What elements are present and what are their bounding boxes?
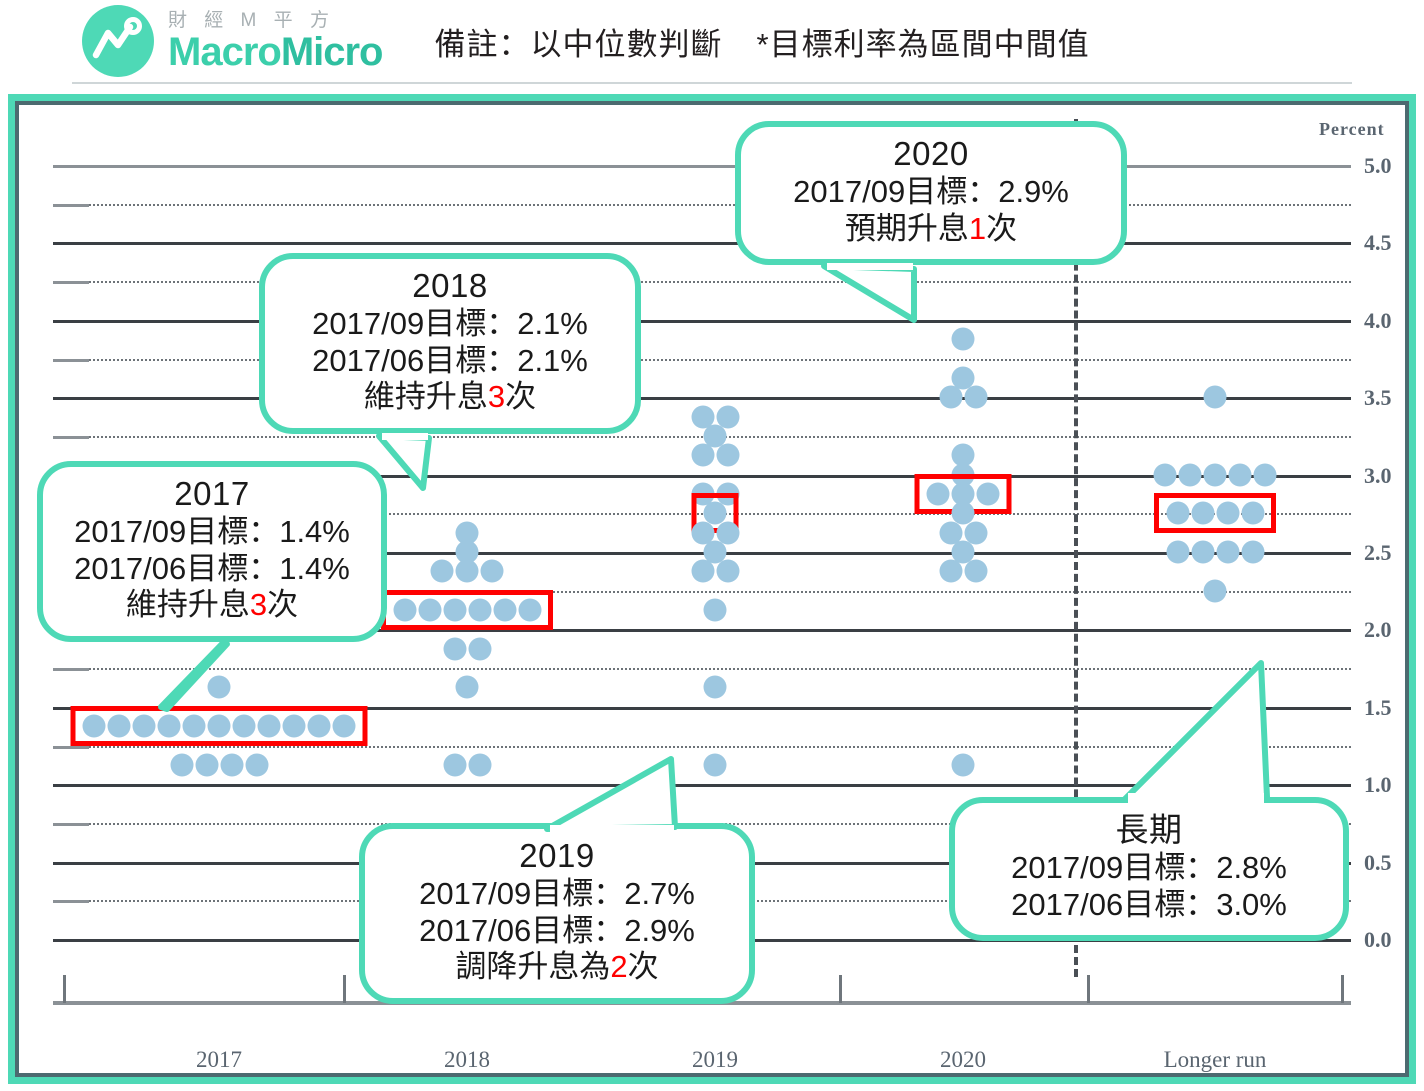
callout-2018-summary: 維持升息3次 [283, 379, 617, 416]
callout-2020-summary: 預期升息1次 [759, 211, 1103, 248]
callout-2017-row-0: 2017/09目標：1.4% [61, 514, 363, 551]
brand-name-en-micro: Micro [281, 30, 383, 74]
dot-point [108, 715, 131, 738]
dot-point [443, 599, 466, 622]
callout-2018-summary-pre: 維持升息 [364, 379, 488, 414]
dot-point [964, 386, 987, 409]
dot-point [308, 715, 331, 738]
x-axis-tick [343, 975, 346, 1003]
dot-plot-area: Percent 0.00.51.01.52.02.53.03.54.04.55.… [19, 105, 1405, 1073]
callout-2020-tail [819, 263, 959, 323]
dot-point [83, 715, 106, 738]
x-axis-tick [839, 975, 842, 1003]
callout-2019-tail [539, 753, 699, 833]
dot-point [468, 637, 491, 660]
dot-point [691, 444, 714, 467]
callout-2018-summary-post: 次 [505, 379, 536, 414]
gridline-major [53, 397, 1351, 400]
dot-point [333, 715, 356, 738]
dot-point [1204, 579, 1227, 602]
dot-point [468, 599, 491, 622]
dot-point [1241, 541, 1264, 564]
dot-point [158, 715, 181, 738]
callout-2017-summary-pre: 維持升息 [126, 587, 250, 622]
callout-2018-row-0: 2017/09目標：2.1% [283, 306, 617, 343]
callout-longer-run-title: 長期 [973, 811, 1325, 850]
dot-point [1166, 541, 1189, 564]
callout-2017-summary-num: 3 [250, 587, 267, 622]
y-axis-tick-stub [53, 436, 89, 439]
callout-2019-title: 2019 [383, 837, 731, 876]
callout-2019-row-1: 2017/06目標：2.9% [383, 913, 731, 950]
x-axis-label-2018: 2018 [444, 1047, 490, 1073]
dot-point [704, 753, 727, 776]
callout-2017-row-1: 2017/06目標：1.4% [61, 551, 363, 588]
dot-point [1154, 463, 1177, 486]
dot-point [1229, 463, 1252, 486]
dot-point [1216, 541, 1239, 564]
y-axis-tick-stub [53, 204, 89, 207]
screenshot-root: 財 經 M 平 方 MacroMicro 備註：以中位數判斷*目標利率為區間中間… [0, 0, 1424, 1091]
dot-point [1204, 463, 1227, 486]
callout-2020-summary-post: 次 [986, 211, 1017, 246]
dot-point [195, 753, 218, 776]
gridline-minor [53, 668, 1351, 670]
dot-point [939, 386, 962, 409]
header-note-left: 備註：以中位數判斷 [435, 27, 723, 62]
callout-2018: 2018 2017/09目標：2.1% 2017/06目標：2.1% 維持升息3… [259, 253, 641, 434]
dot-point [468, 753, 491, 776]
callout-2018-row-1: 2017/06目標：2.1% [283, 343, 617, 380]
callout-2017-tail [127, 639, 257, 711]
y-axis-title: Percent [1319, 119, 1385, 140]
callout-2017-summary: 維持升息3次 [61, 587, 363, 624]
callout-2020-row-0: 2017/09目標：2.9% [759, 174, 1103, 211]
dot-point [1216, 502, 1239, 525]
x-axis-label-2017: 2017 [196, 1047, 242, 1073]
y-axis-tick-label: 5.0 [1364, 153, 1405, 179]
callout-2017-title: 2017 [61, 475, 363, 514]
dot-point [927, 482, 950, 505]
y-axis-tick-label: 3.5 [1364, 385, 1405, 411]
gridline-minor [53, 436, 1351, 438]
dot-point [964, 560, 987, 583]
dot-point [233, 715, 256, 738]
y-axis-tick-label: 0.5 [1364, 850, 1405, 876]
dot-point [1191, 502, 1214, 525]
dot-point [456, 676, 479, 699]
dot-point [952, 753, 975, 776]
callout-2018-title: 2018 [283, 267, 617, 306]
x-axis-tick [1341, 975, 1344, 1003]
x-axis-label-longer-run: Longer run [1164, 1047, 1267, 1073]
dot-point [183, 715, 206, 738]
x-axis-tick [63, 975, 66, 1003]
y-axis-tick-label: 0.0 [1364, 927, 1405, 953]
dot-point [443, 753, 466, 776]
brand-name-en-macro: Macro [168, 30, 281, 74]
callout-2019-summary-pre: 調降升息為 [455, 949, 610, 984]
y-axis-tick-label: 4.5 [1364, 230, 1405, 256]
gridline-major [53, 165, 1351, 168]
dot-point [716, 560, 739, 583]
page-header: 財 經 M 平 方 MacroMicro 備註：以中位數判斷*目標利率為區間中間… [72, 0, 1352, 84]
dot-point [170, 753, 193, 776]
callout-2018-tail [371, 433, 491, 493]
callout-longer-run: 長期 2017/09目標：2.8% 2017/06目標：3.0% [949, 797, 1349, 941]
y-axis-tick-label: 2.5 [1364, 540, 1405, 566]
dot-point [431, 560, 454, 583]
dot-point [952, 328, 975, 351]
callout-longer-run-row-1: 2017/06目標：3.0% [973, 887, 1325, 924]
dot-point [1166, 502, 1189, 525]
dot-point [691, 560, 714, 583]
dot-point [456, 560, 479, 583]
callout-2017: 2017 2017/09目標：1.4% 2017/06目標：1.4% 維持升息3… [37, 461, 387, 642]
dot-point [1191, 541, 1214, 564]
dot-point [1179, 463, 1202, 486]
callout-2019-summary-num: 2 [610, 949, 627, 984]
callout-2019-row-0: 2017/09目標：2.7% [383, 876, 731, 913]
y-axis-tick-label: 2.0 [1364, 617, 1405, 643]
x-axis-tick [1087, 975, 1090, 1003]
macromicro-logo-icon [82, 5, 154, 77]
dot-point [704, 676, 727, 699]
callout-longer-run-tail [1119, 657, 1299, 803]
callout-2020: 2020 2017/09目標：2.9% 預期升息1次 [735, 121, 1127, 265]
dot-point [518, 599, 541, 622]
dot-point [977, 482, 1000, 505]
callout-2018-summary-num: 3 [488, 379, 505, 414]
dot-point [393, 599, 416, 622]
dot-point [1204, 386, 1227, 409]
dot-point [1254, 463, 1277, 486]
brand-name-cn: 財 經 M 平 方 [168, 11, 383, 30]
dot-point [1241, 502, 1264, 525]
dot-point [493, 599, 516, 622]
dot-point [208, 715, 231, 738]
y-axis-tick-stub [53, 668, 89, 671]
y-axis-tick-stub [53, 900, 89, 903]
y-axis-tick-stub [53, 359, 89, 362]
gridline-minor [53, 281, 1351, 283]
brand-logo: 財 經 M 平 方 MacroMicro [72, 5, 383, 77]
y-axis-tick-label: 3.0 [1364, 463, 1405, 489]
header-note: 備註：以中位數判斷*目標利率為區間中間值 [435, 19, 1090, 64]
y-axis-tick-label: 4.0 [1364, 308, 1405, 334]
x-axis-label-2019: 2019 [692, 1047, 738, 1073]
dot-point [939, 560, 962, 583]
callout-2020-summary-pre: 預期升息 [845, 211, 969, 246]
dot-point [245, 753, 268, 776]
gridline-major [53, 242, 1351, 245]
dot-point [481, 560, 504, 583]
header-note-right: *目標利率為區間中間值 [757, 27, 1090, 62]
y-axis-tick-stub [53, 823, 89, 826]
x-axis-label-2020: 2020 [940, 1047, 986, 1073]
brand-name-en: MacroMicro [168, 32, 383, 72]
gridline-minor [53, 359, 1351, 361]
callout-2020-summary-num: 1 [969, 211, 986, 246]
dot-point [283, 715, 306, 738]
gridline-major [53, 320, 1351, 323]
dot-point [716, 444, 739, 467]
dot-point [220, 753, 243, 776]
dot-point [704, 599, 727, 622]
chart-inner-frame: Percent 0.00.51.01.52.02.53.03.54.04.55.… [15, 101, 1409, 1077]
callout-2019-summary: 調降升息為2次 [383, 949, 731, 986]
dot-point [418, 599, 441, 622]
dot-point [133, 715, 156, 738]
brand-text: 財 經 M 平 方 MacroMicro [168, 11, 383, 72]
dot-point [258, 715, 281, 738]
chart-outer-frame: Percent 0.00.51.01.52.02.53.03.54.04.55.… [8, 94, 1416, 1084]
gridline-major [53, 784, 1351, 787]
dot-point [443, 637, 466, 660]
dot-point [208, 676, 231, 699]
callout-2019-summary-post: 次 [628, 949, 659, 984]
gridline-minor [53, 204, 1351, 206]
callout-2020-title: 2020 [759, 135, 1103, 174]
y-axis-tick-label: 1.0 [1364, 772, 1405, 798]
callout-longer-run-row-0: 2017/09目標：2.8% [973, 850, 1325, 887]
callout-2019: 2019 2017/09目標：2.7% 2017/06目標：2.9% 調降升息為… [359, 823, 755, 1004]
y-axis-tick-label: 1.5 [1364, 695, 1405, 721]
callout-2017-summary-post: 次 [267, 587, 298, 622]
y-axis-tick-stub [53, 281, 89, 284]
